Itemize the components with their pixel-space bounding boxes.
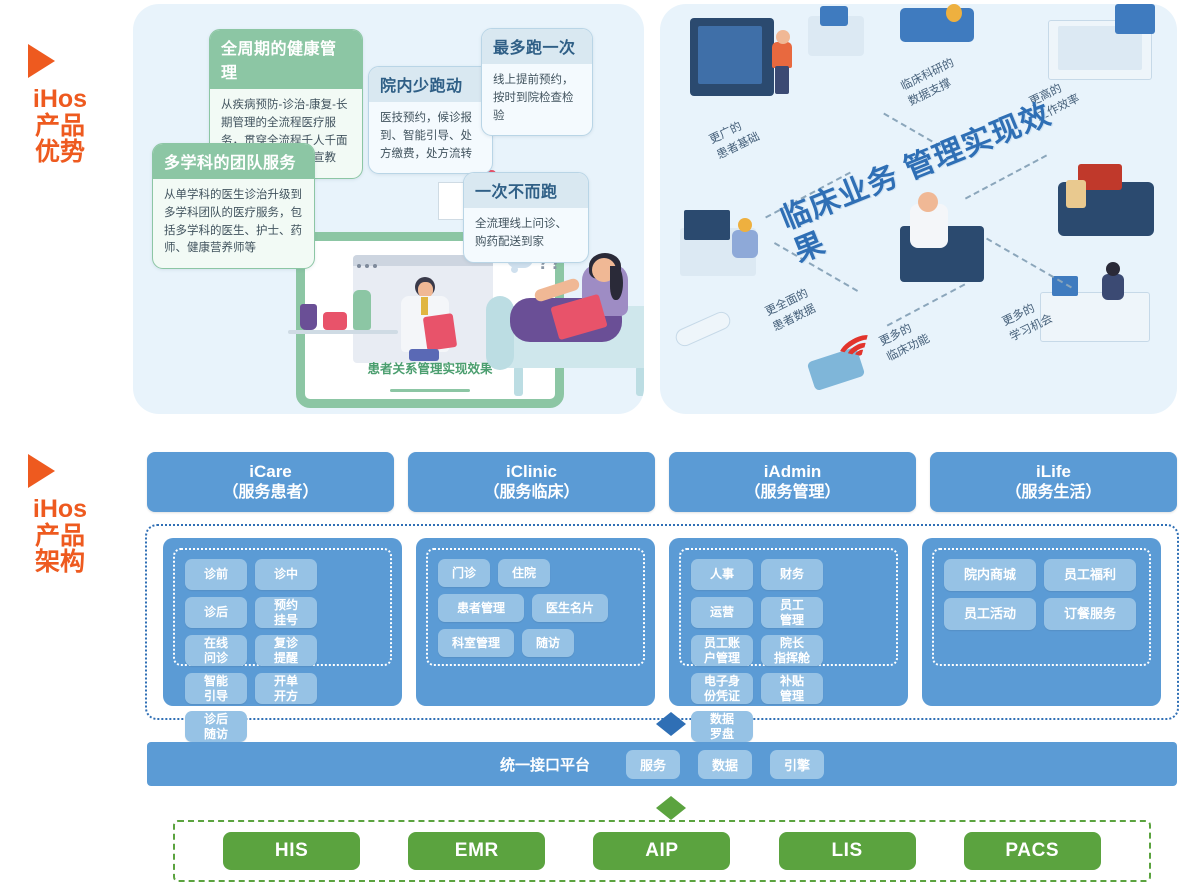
- seated-person-icon: [732, 230, 758, 258]
- effect-label-research-data: 临床科研的 数据支撑: [898, 55, 965, 111]
- chip-iclinic[interactable]: 患者管理: [438, 594, 524, 622]
- seated-person-head-icon: [738, 218, 752, 232]
- effect-label-patient-data: 更全面的 患者数据: [763, 286, 819, 337]
- workstation-monitor-icon: [684, 210, 730, 240]
- chip-iadmin[interactable]: 运营: [691, 597, 753, 628]
- desk-line-decoration: [288, 330, 398, 334]
- tab-ilife[interactable]: iLife （服务生活）: [930, 452, 1177, 512]
- chip-iadmin[interactable]: 院长 指挥舱: [761, 635, 823, 666]
- info-box-body: 医技预约，候诊报到、智能引导、处方缴费，处方流转: [369, 102, 492, 173]
- effect-label-patient-base: 更广的 患者基础: [707, 114, 763, 165]
- doctor-figure-icon: [373, 277, 473, 359]
- chip-iadmin[interactable]: 数据 罗盘: [691, 711, 753, 742]
- meeting-table-icon: [1040, 292, 1150, 342]
- tab-icare[interactable]: iCare （服务患者）: [147, 452, 394, 512]
- chip-icare[interactable]: 预约 挂号: [255, 597, 317, 628]
- info-box-title: 全周期的健康管理: [210, 30, 362, 89]
- chip-iadmin[interactable]: 补贴 管理: [761, 673, 823, 704]
- chip-ilife[interactable]: 员工活动: [944, 598, 1036, 630]
- rail-line: iHos: [0, 86, 120, 113]
- attendee-head-icon: [1106, 262, 1120, 276]
- plant-decoration: [353, 290, 371, 330]
- standing-person-icon: [772, 42, 792, 68]
- chip-icare[interactable]: 诊中: [255, 559, 317, 590]
- foundation-pacs[interactable]: PACS: [964, 832, 1101, 870]
- arrow-up-down-blue: [656, 712, 686, 736]
- person-head-icon: [776, 30, 790, 44]
- module-column-iclinic: 门诊 住院 患者管理 医生名片 科室管理 随访: [416, 538, 655, 706]
- tab-label-en: iCare: [249, 462, 292, 483]
- tab-label-en: iLife: [1036, 462, 1071, 483]
- sofa-patient-illustration: [486, 258, 644, 402]
- chip-iadmin[interactable]: 财务: [761, 559, 823, 590]
- monitor-icon: [820, 6, 848, 26]
- chip-iadmin[interactable]: 人事: [691, 559, 753, 590]
- chip-ilife[interactable]: 订餐服务: [1044, 598, 1136, 630]
- foundation-lis[interactable]: LIS: [779, 832, 916, 870]
- chip-icare[interactable]: 诊后: [185, 597, 247, 628]
- unified-interface-platform: 统一接口平台 服务 数据 引擎: [147, 742, 1177, 786]
- kiosk-inner-icon: [698, 26, 762, 84]
- foundation-aip[interactable]: AIP: [593, 832, 730, 870]
- chip-icare[interactable]: 诊后 随访: [185, 711, 247, 742]
- chip-iadmin[interactable]: 员工账 户管理: [691, 635, 753, 666]
- connector-line: [986, 238, 1072, 289]
- tab-label-en: iClinic: [506, 462, 557, 483]
- chip-iclinic[interactable]: 门诊: [438, 559, 490, 587]
- rail-line: iHos: [0, 496, 120, 523]
- info-box-title: 院内少跑动: [369, 67, 492, 102]
- chip-iadmin[interactable]: 员工 管理: [761, 597, 823, 628]
- tab-label-cn: （服务管理）: [744, 483, 840, 503]
- tablet-device-icon: [900, 8, 974, 42]
- chip-iclinic[interactable]: 科室管理: [438, 629, 514, 657]
- infographic-page: iHos 产品 优势 iHos 产品 架构 患者关系管理实现效果: [0, 0, 1184, 886]
- book-decoration: [323, 312, 347, 330]
- foundation-his[interactable]: HIS: [223, 832, 360, 870]
- foundation-emr[interactable]: EMR: [408, 832, 545, 870]
- tab-iadmin[interactable]: iAdmin （服务管理）: [669, 452, 916, 512]
- clinical-effect-card: 更广的 患者基础 临床科研的 数据支撑 更高的 工作效率 更全面的 患者数据 更…: [660, 4, 1177, 414]
- laptop-screen: [353, 255, 493, 363]
- chip-ilife[interactable]: 员工福利: [1044, 559, 1136, 591]
- module-inner-iclinic: 门诊 住院 患者管理 医生名片 科室管理 随访: [426, 548, 645, 666]
- chip-icare[interactable]: 复诊 提醒: [255, 635, 317, 666]
- triangle-bullet-icon: [28, 454, 55, 488]
- platform-chip-engine[interactable]: 引擎: [770, 750, 824, 779]
- info-box-no-trip: 一次不而跑 全流理线上问诊、购药配送到家: [463, 172, 589, 263]
- chip-iclinic[interactable]: 住院: [498, 559, 550, 587]
- section-label-architecture: iHos 产品 架构: [0, 454, 120, 576]
- tab-label-cn: （服务生活）: [1005, 483, 1101, 503]
- info-box-body: 从单学科的医生诊治升级到多学科团队的医疗服务，包括多学科的医生、护士、药师、健康…: [153, 179, 314, 268]
- laptop-base: [390, 389, 470, 392]
- advantages-card: 患者关系管理实现效果 ?? 全周期的健康管理 从疾病预防-诊治-康复-长期管理的…: [133, 4, 644, 414]
- rail-line: 架构: [0, 549, 120, 576]
- thermometer-icon: [673, 309, 733, 349]
- info-box-multidisciplinary: 多学科的团队服务 从单学科的医生诊治升级到多学科团队的医疗服务，包括多学科的医生…: [152, 143, 315, 269]
- chip-iadmin[interactable]: 电子身 份凭证: [691, 673, 753, 704]
- attendee-icon: [1102, 274, 1124, 300]
- chip-icare[interactable]: 智能 引导: [185, 673, 247, 704]
- platform-chip-service[interactable]: 服务: [626, 750, 680, 779]
- platform-title: 统一接口平台: [500, 754, 590, 775]
- module-column-icare: 诊前 诊中 诊后 预约 挂号 在线 问诊 复诊 提醒 智能 引导 开单 开方 诊…: [163, 538, 402, 706]
- chip-iclinic[interactable]: 医生名片: [532, 594, 608, 622]
- tab-label-cn: （服务临床）: [483, 483, 579, 503]
- module-column-ilife: 院内商城 员工福利 员工活动 订餐服务: [922, 538, 1161, 706]
- chip-icare[interactable]: 在线 问诊: [185, 635, 247, 666]
- info-box-title: 一次不而跑: [464, 173, 588, 208]
- effect-label-clinical-features: 更多的 临床功能: [877, 316, 933, 367]
- triangle-bullet-icon: [28, 44, 55, 78]
- platform-chip-data[interactable]: 数据: [698, 750, 752, 779]
- person-legs-icon: [775, 66, 789, 94]
- chip-ilife[interactable]: 院内商城: [944, 559, 1036, 591]
- foundation-systems-row: HIS EMR AIP LIS PACS: [173, 820, 1151, 882]
- info-box-title: 多学科的团队服务: [153, 144, 314, 179]
- cup-decoration: [300, 304, 317, 330]
- module-inner-iadmin: 人事 财务 运营 员工 管理 员工账 户管理 院长 指挥舱 电子身 份凭证 补贴…: [679, 548, 898, 666]
- arrow-up-down-green: [656, 796, 686, 820]
- nurse-icon: [946, 4, 962, 22]
- architecture-module-row: 诊前 诊中 诊后 预约 挂号 在线 问诊 复诊 提醒 智能 引导 开单 开方 诊…: [147, 526, 1177, 718]
- info-box-at-most-once: 最多跑一次 线上提前预约，按时到院检查检验: [481, 28, 593, 136]
- rail-line: 优势: [0, 139, 120, 166]
- module-inner-ilife: 院内商城 员工福利 员工活动 订餐服务: [932, 548, 1151, 666]
- chip-iclinic[interactable]: 随访: [522, 629, 574, 657]
- info-box-body: 线上提前预约，按时到院检查检验: [482, 64, 592, 135]
- module-column-iadmin: 人事 财务 运营 员工 管理 员工账 户管理 院长 指挥舱 电子身 份凭证 补贴…: [669, 538, 908, 706]
- info-box-title: 最多跑一次: [482, 29, 592, 64]
- architecture-header-row: iCare （服务患者） iClinic （服务临床） iAdmin （服务管理…: [147, 452, 1177, 512]
- connector-line: [887, 283, 966, 326]
- pill-bottle-icon: [1066, 180, 1086, 208]
- tab-label-cn: （服务患者）: [222, 483, 318, 503]
- info-box-in-hospital: 院内少跑动 医技预约，候诊报到、智能引导、处方缴费，处方流转: [368, 66, 493, 174]
- tab-label-en: iAdmin: [764, 462, 822, 483]
- chip-icare[interactable]: 诊前: [185, 559, 247, 590]
- chip-icare[interactable]: 开单 开方: [255, 673, 317, 704]
- tab-iclinic[interactable]: iClinic （服务临床）: [408, 452, 655, 512]
- section-label-advantages: iHos 产品 优势: [0, 44, 120, 166]
- module-inner-icare: 诊前 诊中 诊后 预约 挂号 在线 问诊 复诊 提醒 智能 引导 开单 开方 诊…: [173, 548, 392, 666]
- info-box-body: 全流理线上问诊、购药配送到家: [464, 208, 588, 262]
- video-tile-icon: [1115, 4, 1155, 34]
- rail-line: 产品: [0, 113, 120, 140]
- rail-line: 产品: [0, 523, 120, 550]
